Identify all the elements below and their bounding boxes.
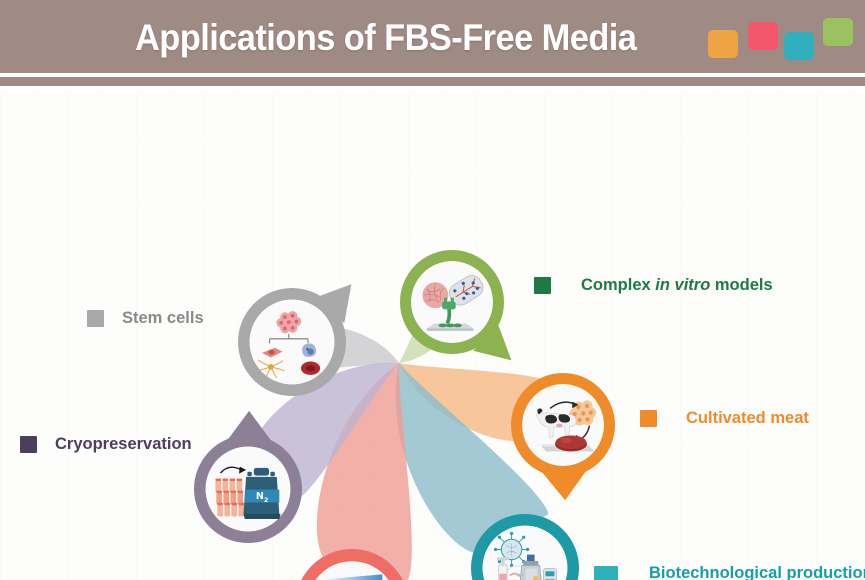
node-stem-cells[interactable] xyxy=(208,258,376,426)
cryovial xyxy=(223,493,229,505)
diagram-canvas: drug concentration xyxy=(0,90,865,580)
label-cultivated-meat[interactable]: Cultivated meat xyxy=(640,409,809,428)
cryovial-cap xyxy=(224,503,230,506)
cryovial-cap xyxy=(231,503,237,506)
cryovial xyxy=(215,481,221,493)
cryovial xyxy=(216,493,222,505)
orange-square xyxy=(708,30,738,58)
cryovial-cap xyxy=(237,491,243,494)
cryovial-cap xyxy=(216,491,222,494)
node-cryopreservation[interactable]: N2 xyxy=(164,405,332,573)
cryovial-cap xyxy=(215,479,221,482)
cryovial xyxy=(237,493,243,505)
teal-square xyxy=(784,32,814,60)
cryovial-cap xyxy=(230,491,236,494)
label-biotechnological-production[interactable]: Biotechnological production xyxy=(594,564,865,580)
cryovial xyxy=(230,493,236,505)
header-bar: Applications of FBS-Free Media xyxy=(0,0,865,73)
cryovial xyxy=(231,505,237,517)
label-text-biotechnological-production: Biotechnological production xyxy=(649,564,865,580)
cryovial-cap xyxy=(222,479,228,482)
slide: Applications of FBS-Free Media xyxy=(0,0,865,580)
cryovial xyxy=(236,481,242,493)
cryovial-cap xyxy=(238,503,244,506)
swatch-biotechnological-production xyxy=(594,566,618,580)
label-cryopreservation[interactable]: Cryopreservation xyxy=(20,435,192,454)
label-complex-in-vitro-models[interactable]: Complex in vitro models xyxy=(534,276,773,295)
cryovial-cap xyxy=(229,479,235,482)
cryovial-cap xyxy=(236,479,242,482)
label-text-cultivated-meat: Cultivated meat xyxy=(686,409,809,428)
header-divider-taupe xyxy=(0,77,865,86)
swatch-stem-cells xyxy=(87,310,104,327)
green-square xyxy=(823,18,853,46)
cryovial xyxy=(229,481,235,493)
swatch-cultivated-meat xyxy=(640,410,657,427)
cryovial xyxy=(224,505,230,517)
label-text-stem-cells: Stem cells xyxy=(122,309,204,328)
pink-square xyxy=(748,22,778,50)
cryovial-cap xyxy=(217,503,223,506)
label-stem-cells[interactable]: Stem cells xyxy=(87,309,204,328)
cryovial xyxy=(217,505,223,517)
cryovial xyxy=(238,505,244,517)
node-cultivated-meat[interactable] xyxy=(482,344,644,506)
label-text-complex-in-vitro-models: Complex in vitro models xyxy=(581,276,773,295)
swatch-cryopreservation xyxy=(20,436,37,453)
node-biotechnological-production[interactable] xyxy=(441,484,609,580)
cryovial-cap xyxy=(223,491,229,494)
label-text-cryopreservation: Cryopreservation xyxy=(55,435,192,454)
swatch-complex-in-vitro-models xyxy=(534,277,551,294)
page-title: Applications of FBS-Free Media xyxy=(135,17,636,59)
cryovial xyxy=(222,481,228,493)
